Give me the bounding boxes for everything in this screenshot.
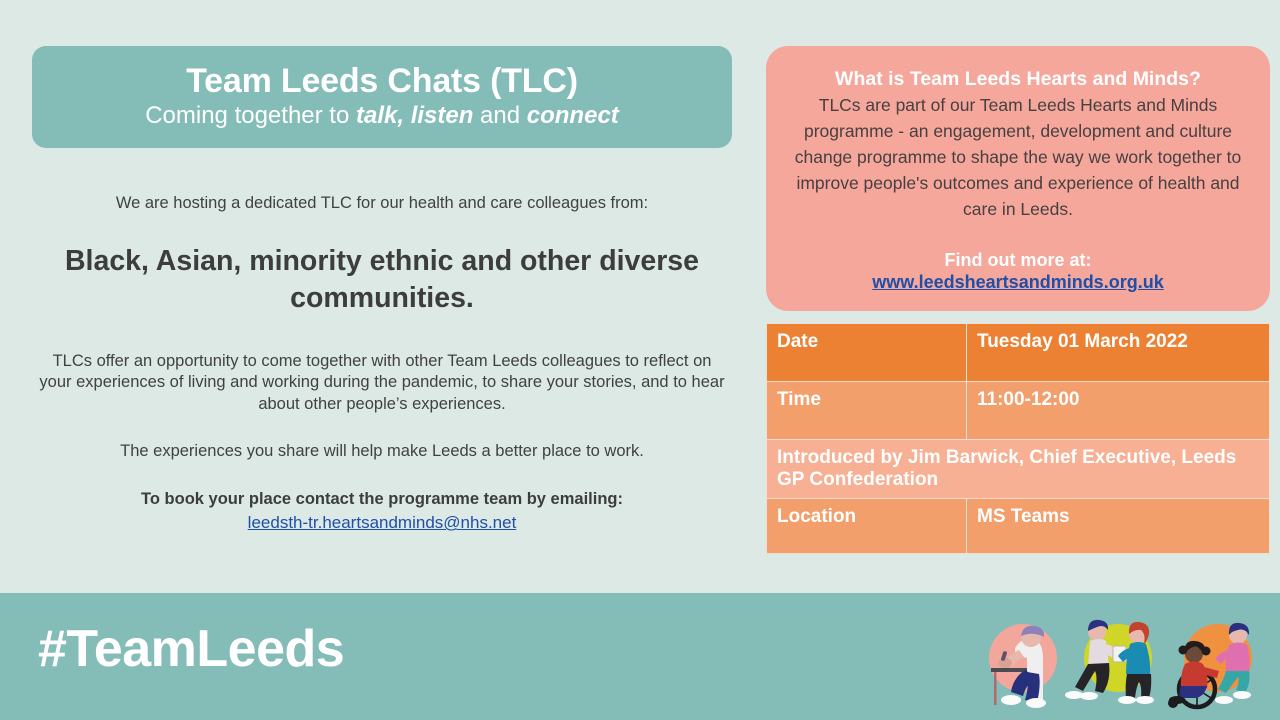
booking-email-link[interactable]: leedsth-tr.heartsandminds@nhs.net — [32, 512, 732, 534]
page-subtitle: Coming together to talk, listen and conn… — [52, 102, 712, 130]
booking-block: To book your place contact the programme… — [32, 489, 732, 535]
page-title: Team Leeds Chats (TLC) — [52, 62, 712, 100]
subtitle-middle: and — [473, 102, 526, 129]
table-row: Location MS Teams — [767, 499, 1270, 554]
info-card-body: TLCs are part of our Team Leeds Hearts a… — [786, 93, 1250, 222]
hashtag-teamleeds: #TeamLeeds — [38, 619, 344, 679]
detail-value-location: MS Teams — [967, 499, 1270, 554]
table-row: Date Tuesday 01 March 2022 — [767, 324, 1270, 382]
detail-value-time: 11:00-12:00 — [967, 382, 1270, 440]
detail-label-date: Date — [767, 324, 967, 382]
help-paragraph: The experiences you share will help make… — [32, 441, 732, 462]
table-row: Time 11:00-12:00 — [767, 382, 1270, 440]
detail-label-time: Time — [767, 382, 967, 440]
offer-paragraph: TLCs offer an opportunity to come togeth… — [32, 351, 732, 414]
subtitle-emphasis-one: talk, listen — [356, 102, 473, 129]
title-banner: Team Leeds Chats (TLC) Coming together t… — [32, 46, 732, 148]
detail-value-date: Tuesday 01 March 2022 — [967, 324, 1270, 382]
detail-introduced-by: Introduced by Jim Barwick, Chief Executi… — [767, 440, 1270, 499]
illustration-person-pair — [1065, 620, 1154, 704]
illustration-wheelchair-pair — [1168, 623, 1252, 708]
illustration-person-desk — [989, 624, 1057, 708]
detail-label-location: Location — [767, 499, 967, 554]
find-out-more-label: Find out more at: — [786, 249, 1250, 272]
event-details-table: Date Tuesday 01 March 2022 Time 11:00-12… — [766, 323, 1270, 554]
table-row: Introduced by Jim Barwick, Chief Executi… — [767, 440, 1270, 499]
audience-headline: Black, Asian, minority ethnic and other … — [32, 243, 732, 319]
left-content-column: Team Leeds Chats (TLC) Coming together t… — [32, 46, 732, 534]
info-card: What is Team Leeds Hearts and Minds? TLC… — [766, 46, 1270, 311]
intro-paragraph: We are hosting a dedicated TLC for our h… — [32, 193, 732, 214]
booking-label: To book your place contact the programme… — [141, 490, 623, 508]
subtitle-emphasis-two: connect — [527, 102, 619, 129]
right-content-column: What is Team Leeds Hearts and Minds? TLC… — [766, 46, 1270, 554]
info-card-heading: What is Team Leeds Hearts and Minds? — [786, 68, 1250, 91]
subtitle-prefix: Coming together to — [145, 102, 356, 129]
footer-banner: #TeamLeeds — [0, 593, 1280, 720]
people-illustration — [975, 610, 1275, 714]
website-link[interactable]: www.leedsheartsandminds.org.uk — [786, 272, 1250, 293]
